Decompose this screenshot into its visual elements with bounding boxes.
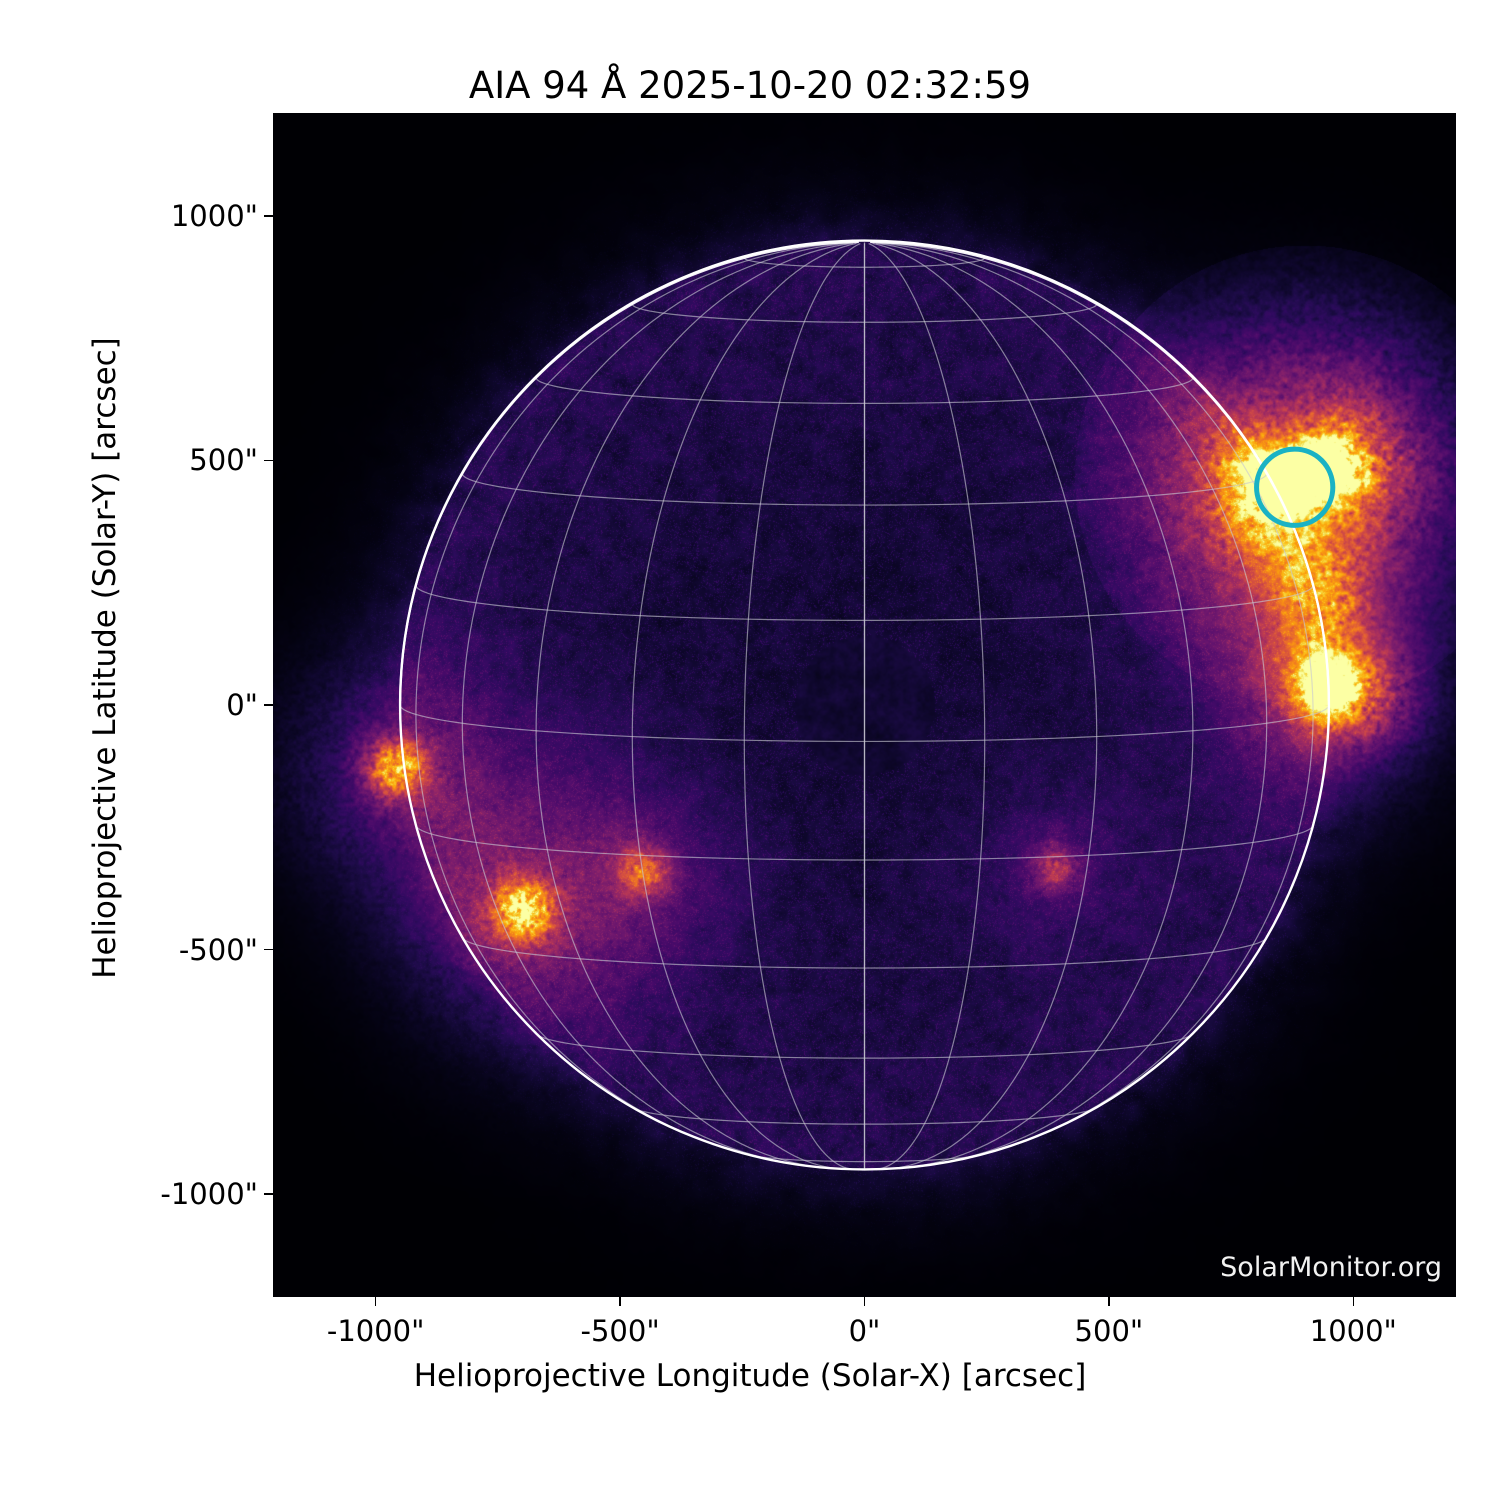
grid-line [416,243,849,1150]
x-tick-label: 0" [849,1314,881,1348]
plot-area[interactable]: SolarMonitor.org [273,113,1456,1297]
grid-line [879,243,1267,1164]
grid-line [744,244,860,1170]
y-tick-mark [264,704,273,706]
y-tick-label: -1000" [73,1177,258,1211]
active-region-marker[interactable] [1257,449,1333,525]
grid-line [536,243,853,1167]
heliographic-grid [400,242,1329,1169]
watermark-solarmonitor: SolarMonitor.org [1220,1252,1442,1283]
x-tick-label: -1000" [327,1314,425,1348]
overlay-graphics [273,113,1456,1297]
grid-line [880,243,1313,1150]
grid-line [462,243,850,1164]
grid-line [869,244,985,1170]
x-tick-label: 1000" [1310,1314,1397,1348]
x-axis-label: Helioprojective Longitude (Solar-X) [arc… [0,1358,1500,1394]
y-tick-mark [264,949,273,951]
terminator-meridian [400,242,859,701]
x-tick-mark [619,1297,621,1306]
y-tick-mark [264,1193,273,1195]
x-tick-label: -500" [581,1314,660,1348]
y-tick-mark [264,215,273,217]
x-tick-mark [864,1297,866,1306]
x-tick-mark [1353,1297,1355,1306]
grid-line [876,243,1193,1167]
active-region-marker[interactable] [1257,449,1333,525]
x-tick-label: 500" [1075,1314,1144,1348]
x-tick-mark [1108,1297,1110,1306]
y-axis-label: Helioprojective Latitude (Solar-Y) [arcs… [87,208,123,1108]
solar-image-figure: AIA 94 Å 2025-10-20 02:32:59 SolarMonito… [0,0,1500,1500]
page-title: AIA 94 Å 2025-10-20 02:32:59 [0,64,1500,107]
x-tick-mark [375,1297,377,1306]
y-tick-mark [264,460,273,462]
